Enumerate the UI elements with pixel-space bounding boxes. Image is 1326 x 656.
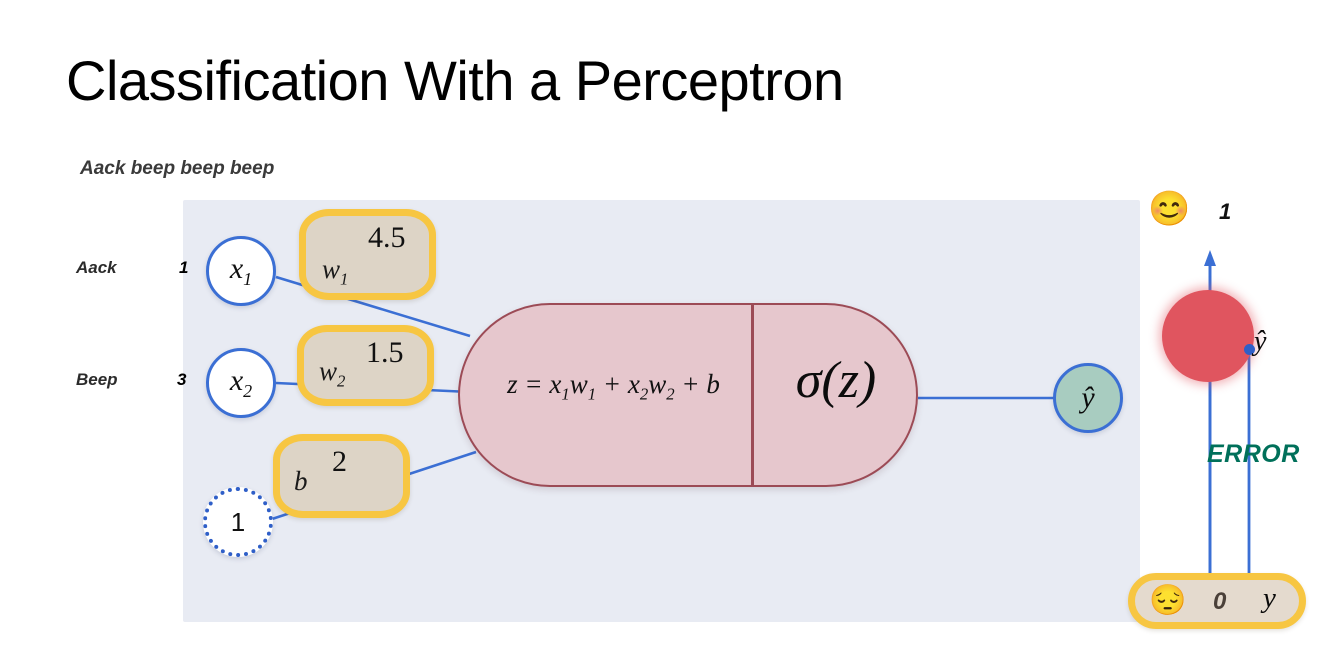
input-value-aack: 1 xyxy=(179,258,188,278)
weight-symbol-w1: w1 xyxy=(322,254,348,289)
output-node-yhat[interactable]: ŷ xyxy=(1053,363,1123,433)
actual-value-pill[interactable]: 😔 0 y xyxy=(1128,573,1306,629)
prediction-blob xyxy=(1162,290,1254,382)
input-node-x2[interactable]: x2 xyxy=(206,348,276,418)
input-value-beep: 3 xyxy=(177,370,186,390)
bias-input-node-label: 1 xyxy=(231,509,245,535)
weight-value-w1: 4.5 xyxy=(368,221,406,255)
weight-value-bias: 2 xyxy=(332,445,347,479)
weight-symbol-bias: b xyxy=(294,466,308,497)
actual-label-y: y xyxy=(1263,582,1276,615)
input-label-aack: Aack xyxy=(76,258,117,278)
perceptron-neuron[interactable]: z = x1w1 + x2w2 + b σ(z) xyxy=(458,303,918,487)
page-title: Classification With a Perceptron xyxy=(66,48,844,113)
input-label-beep: Beep xyxy=(76,370,118,390)
target-value: 1 xyxy=(1219,199,1231,225)
input-node-x1-label: x1 xyxy=(230,254,252,288)
actual-value: 0 xyxy=(1213,588,1226,616)
happy-face-icon: 😊 xyxy=(1148,192,1190,226)
neuron-activation-formula: σ(z) xyxy=(754,351,918,410)
weight-box-w2[interactable]: w2 1.5 xyxy=(297,325,434,406)
prediction-label-yhat: ŷ xyxy=(1254,326,1266,358)
error-label: ERROR xyxy=(1207,440,1300,469)
weight-box-w1[interactable]: w1 4.5 xyxy=(299,209,436,300)
weight-symbol-w2: w2 xyxy=(319,356,345,391)
neuron-z-formula: z = x1w1 + x2w2 + b xyxy=(476,369,751,404)
output-node-label: ŷ xyxy=(1081,381,1094,415)
weight-value-w2: 1.5 xyxy=(366,336,404,370)
sad-face-icon: 😔 xyxy=(1149,586,1186,616)
input-node-x1[interactable]: x1 xyxy=(206,236,276,306)
input-node-x2-label: x2 xyxy=(230,366,252,400)
page-subtitle: Aack beep beep beep xyxy=(80,158,274,180)
weight-box-bias[interactable]: b 2 xyxy=(273,434,410,518)
bias-input-node[interactable]: 1 xyxy=(203,487,273,557)
